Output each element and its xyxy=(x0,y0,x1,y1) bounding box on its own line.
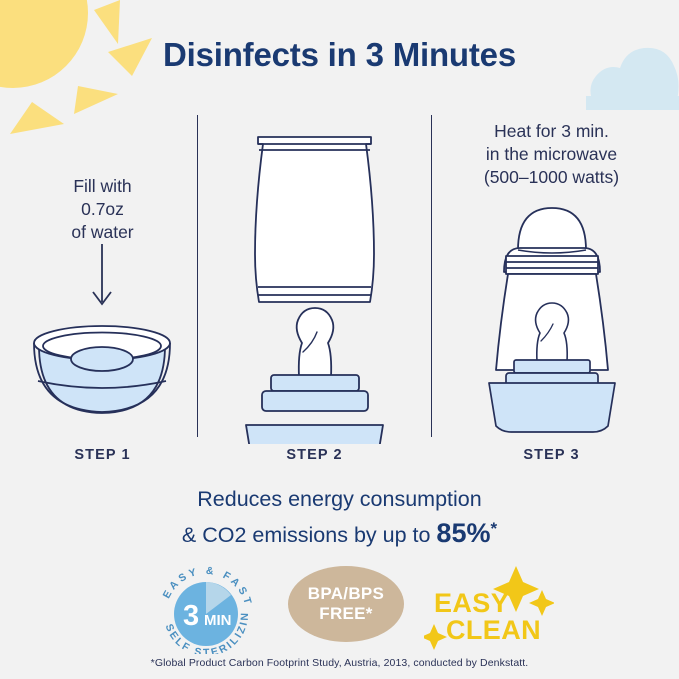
badge-3min-number: 3 xyxy=(183,600,199,632)
step-1-caption-line-3: of water xyxy=(8,221,197,244)
badge-3min-unit: MIN xyxy=(204,612,232,629)
step-3-column: Heat for 3 min. in the microwave (500–10… xyxy=(432,110,671,460)
step-3-caption: Heat for 3 min. in the microwave (500–10… xyxy=(432,120,671,189)
step-1-label: STEP 1 xyxy=(8,447,197,463)
badge-easy-clean: EASY CLEAN xyxy=(424,562,554,654)
badge-bpa-line-2: FREE* xyxy=(319,604,372,624)
badge-3-min: EASY & FAST SELF STERILIZING 3 MIN xyxy=(152,562,260,659)
eco-claim-percent: 85% xyxy=(436,518,490,548)
bottle-teat-icon xyxy=(297,308,334,377)
badge-bpa-line-1: BPA/BPS xyxy=(308,584,384,604)
step-1-caption-line-2: 0.7oz xyxy=(8,198,197,221)
page-title: Disinfects in 3 Minutes xyxy=(0,36,679,74)
badge-clean-line-2: CLEAN xyxy=(446,615,541,646)
assembled-bottle-illustration xyxy=(432,194,671,444)
footnote: *Global Product Carbon Footprint Study, … xyxy=(0,657,679,669)
step-1-column: Fill with 0.7oz of water STEP 1 xyxy=(8,110,197,460)
eco-claim-line-1: Reduces energy consumption xyxy=(0,484,679,514)
infographic-poster: Disinfects in 3 Minutes Fill with 0.7oz … xyxy=(0,0,679,679)
bottle-teat-base-illustration xyxy=(198,114,431,444)
bowl-with-water-illustration xyxy=(8,242,197,442)
step-3-caption-line-2: in the microwave xyxy=(432,143,671,166)
step-3-caption-line-3: (500–1000 watts) xyxy=(432,166,671,189)
eco-claim-line-2: & CO2 emissions by up to 85%* xyxy=(0,514,679,550)
step-2-column: STEP 2 xyxy=(198,110,431,460)
inner-teat-icon xyxy=(536,303,569,362)
badge-row: EASY & FAST SELF STERILIZING 3 MIN BPA/B… xyxy=(0,562,679,654)
step-1-caption: Fill with 0.7oz of water xyxy=(8,175,197,244)
eco-claim-prefix: & CO2 emissions by up to xyxy=(182,523,437,547)
step-3-label: STEP 3 xyxy=(432,447,671,463)
eco-claim: Reduces energy consumption & CO2 emissio… xyxy=(0,484,679,550)
step-2-label: STEP 2 xyxy=(198,447,431,463)
badge-bpa-bps-free: BPA/BPS FREE* xyxy=(288,566,404,642)
eco-claim-asterisk: * xyxy=(490,519,497,538)
step-1-caption-line-1: Fill with xyxy=(8,175,197,198)
step-3-caption-line-1: Heat for 3 min. xyxy=(432,120,671,143)
down-arrow-icon xyxy=(93,244,111,304)
